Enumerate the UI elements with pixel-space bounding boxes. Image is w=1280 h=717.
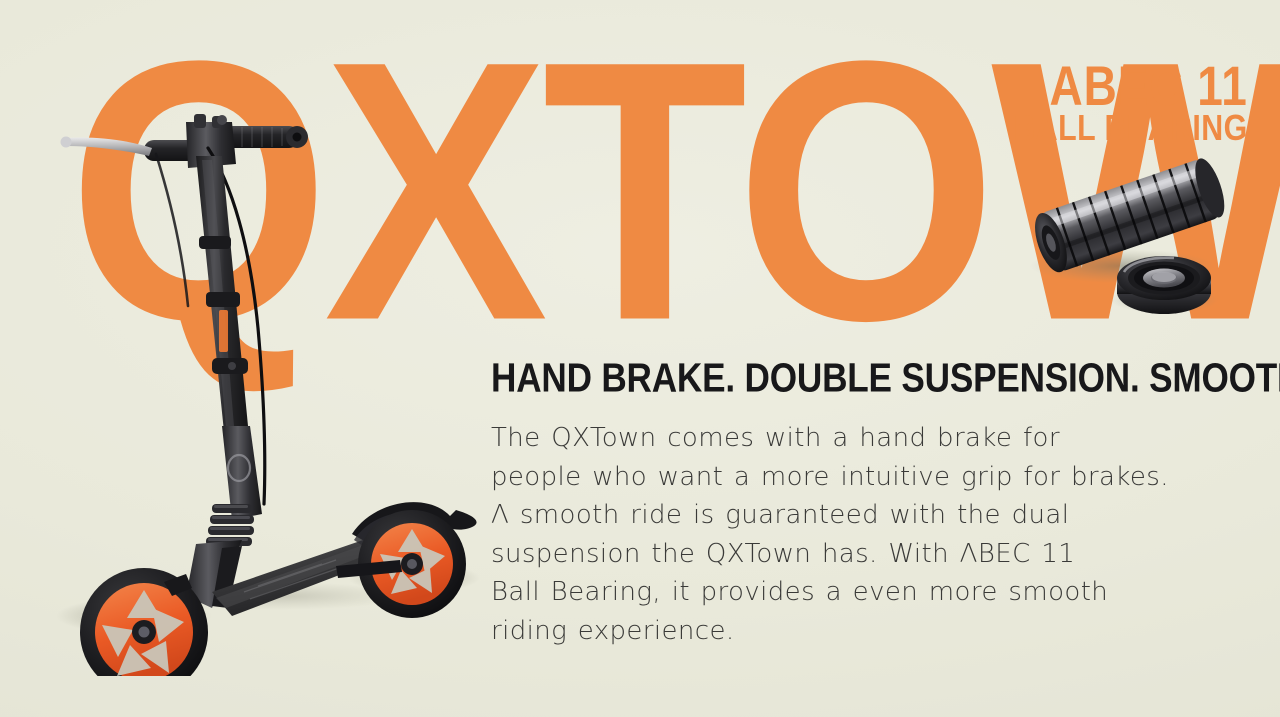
ball-bearing-image	[1012, 158, 1262, 323]
copy-body-line-1: The QXTown comes with a hand brake for	[491, 419, 1171, 458]
abec-badge-title: ABEC 11	[1014, 58, 1248, 114]
copy-body-line-6: riding experience.	[491, 612, 1171, 651]
scooter-product-image	[36, 96, 506, 676]
copy-heading: HAND BRAKE. DOUBLE SUSPENSION. SMOOTH	[491, 355, 1156, 401]
advertisement-poster: QXTOWN	[0, 0, 1280, 717]
copy-body: The QXTown comes with a hand brake forpe…	[491, 419, 1171, 650]
abec-badge-subtitle: BALL BEARING	[1014, 108, 1248, 148]
copy-body-line-5: Ball Bearing, it provides a even more sm…	[491, 573, 1171, 612]
copy-body-line-2: people who want a more intuitive grip fo…	[491, 458, 1171, 497]
copy-body-line-3: Λ smooth ride is guaranteed with the dua…	[491, 496, 1171, 535]
abec-badge: ABEC 11 BALL BEARING	[993, 58, 1248, 144]
copy-block: HAND BRAKE. DOUBLE SUSPENSION. SMOOTH Th…	[491, 355, 1191, 650]
copy-body-line-4: suspension the QXTown has. With ΛBEC 11	[491, 535, 1171, 574]
